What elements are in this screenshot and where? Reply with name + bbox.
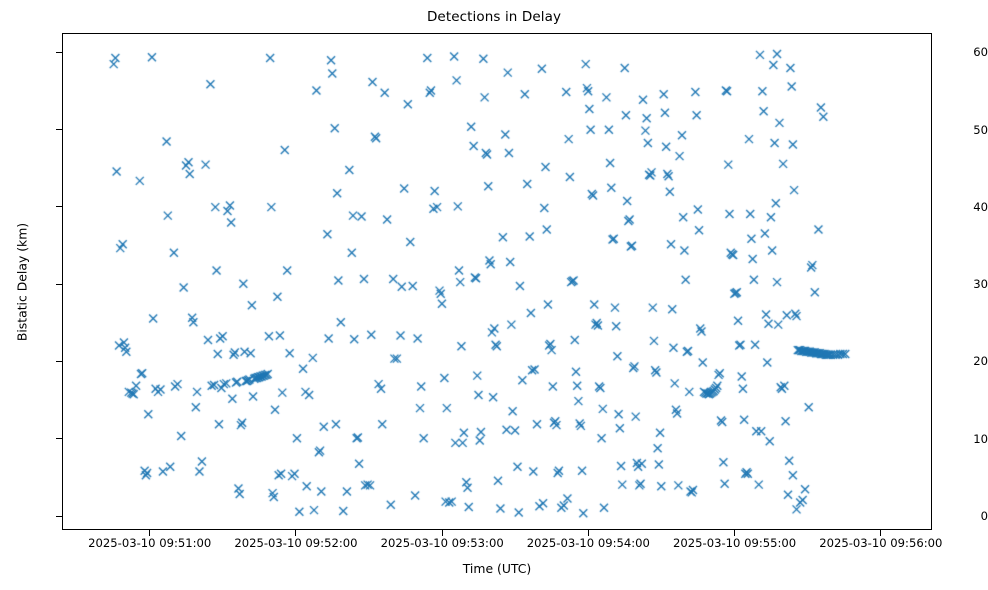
y-tick-label: 10 [938,432,988,446]
y-tick-mark [56,206,62,207]
x-tick-label: 2025-03-10 09:55:00 [673,536,796,550]
y-tick-mark [56,284,62,285]
y-tick-label: 0 [938,509,988,523]
y-tick-label: 50 [938,123,988,137]
chart-title: Detections in Delay [0,9,988,25]
y-axis-label-text: Bistatic Delay (km) [15,222,30,340]
x-tick-label: 2025-03-10 09:54:00 [527,536,650,550]
y-tick-label: 30 [938,277,988,291]
y-tick-mark [56,129,62,130]
figure: Detections in Delay Bistatic Delay (km) … [0,0,988,590]
plot-axes [62,33,932,530]
y-tick-mark [56,438,62,439]
x-axis-label: Time (UTC) [62,561,932,576]
scatter-plot-canvas [63,34,933,531]
y-tick-label: 40 [938,200,988,214]
y-tick-mark [56,361,62,362]
x-tick-label: 2025-03-10 09:56:00 [819,536,942,550]
x-tick-label: 2025-03-10 09:53:00 [381,536,504,550]
y-tick-mark [56,516,62,517]
y-tick-label: 20 [938,354,988,368]
y-axis-label: Bistatic Delay (km) [14,33,30,530]
x-tick-label: 2025-03-10 09:52:00 [234,536,357,550]
x-tick-label: 2025-03-10 09:51:00 [88,536,211,550]
y-tick-mark [56,52,62,53]
y-tick-label: 60 [938,45,988,59]
